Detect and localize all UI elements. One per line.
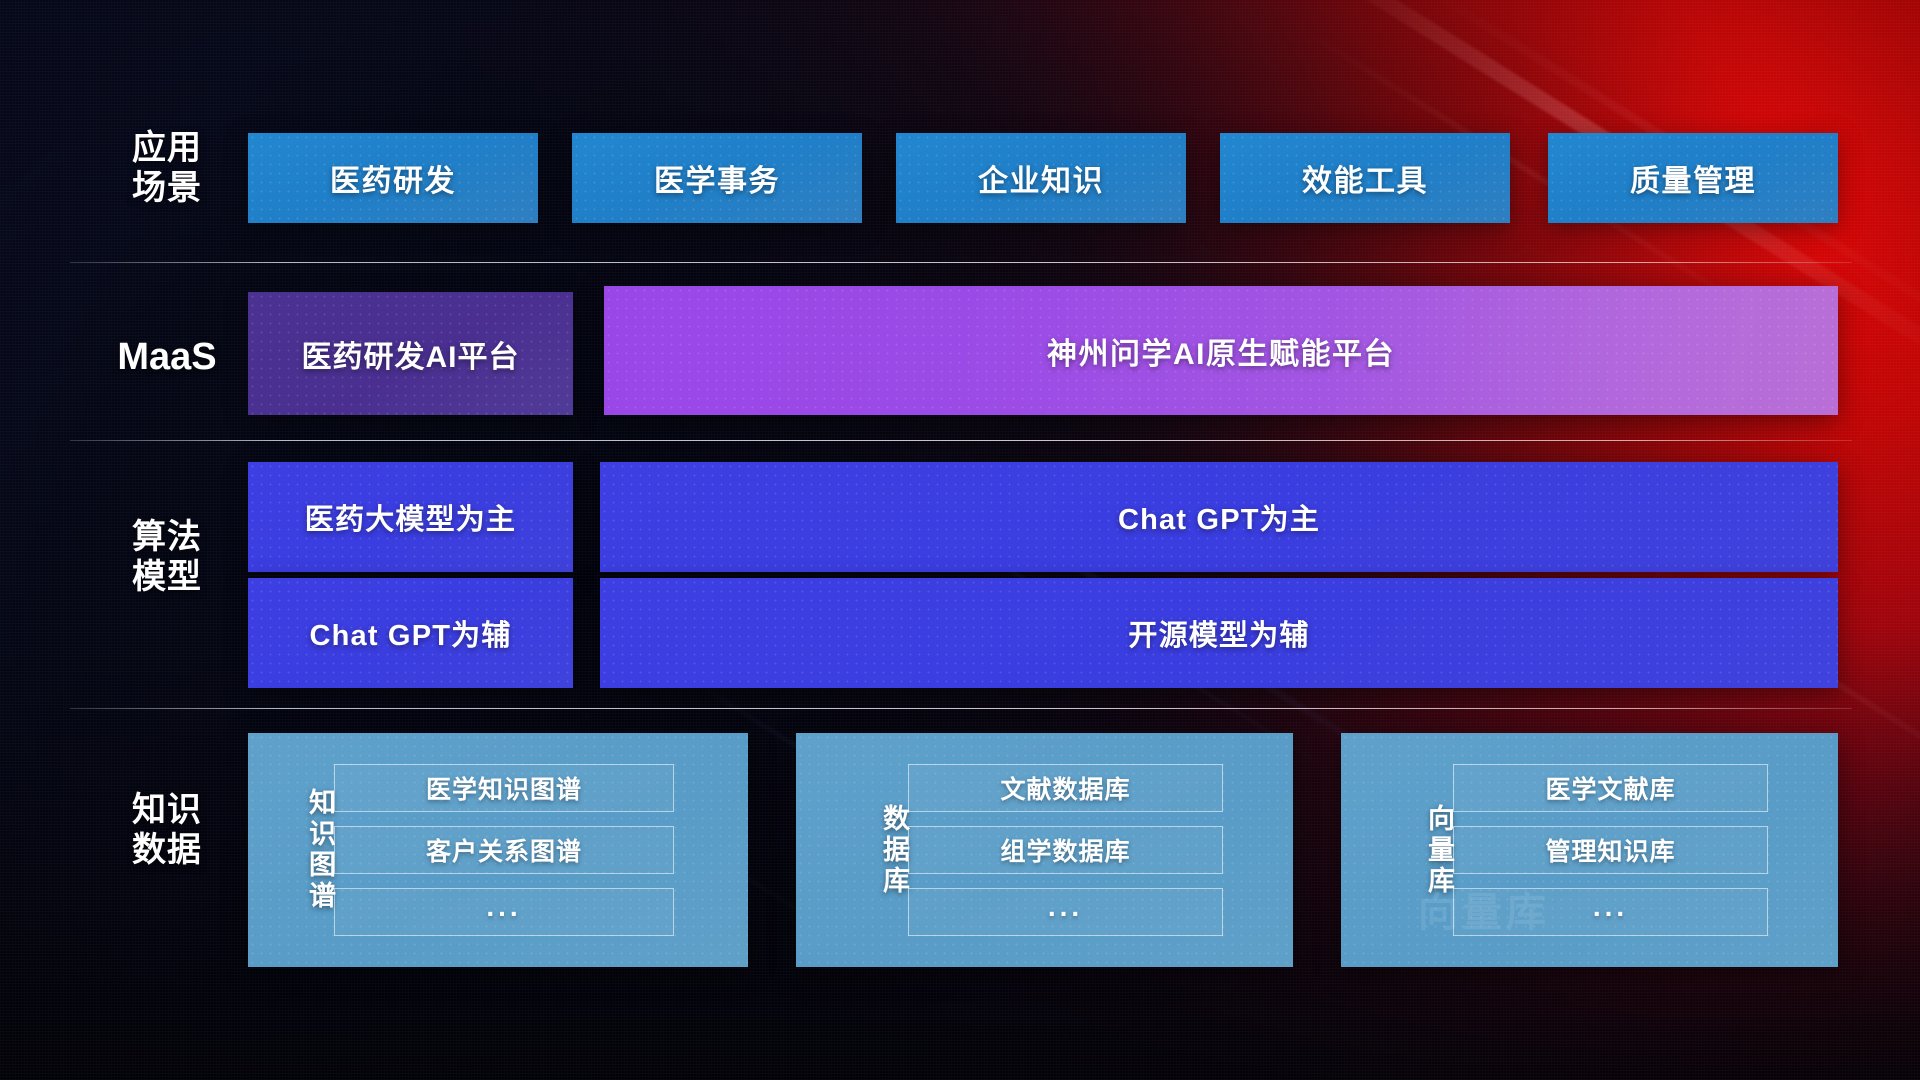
app-card-medical-affairs[interactable]: 医学事务 bbox=[572, 133, 862, 223]
row-label-maas: MaaS bbox=[92, 335, 242, 380]
knowledge-item[interactable]: 医学文献库 bbox=[1453, 764, 1768, 812]
app-card-efficiency-tools[interactable]: 效能工具 bbox=[1220, 133, 1510, 223]
algo-card-opensource-secondary[interactable]: 开源模型为辅 bbox=[600, 578, 1838, 688]
knowledge-group-vector-store: 向量库 医学文献库 管理知识库 ... bbox=[1341, 733, 1838, 967]
app-card-label: 医药研发 bbox=[330, 156, 456, 200]
row-divider-3 bbox=[70, 708, 1852, 709]
knowledge-item[interactable]: 管理知识库 bbox=[1453, 826, 1768, 874]
row-label-knowledge: 知识 数据 bbox=[92, 790, 242, 870]
app-card-label: 企业知识 bbox=[978, 156, 1104, 200]
knowledge-item-more[interactable]: ... bbox=[1453, 888, 1768, 936]
algo-card-label: Chat GPT为主 bbox=[1118, 496, 1320, 538]
knowledge-item-list: 文献数据库 组学数据库 ... bbox=[908, 733, 1293, 967]
architecture-diagram: 应用 场景 医药研发 医学事务 企业知识 效能工具 质量管理 MaaS 医药研发… bbox=[0, 0, 1920, 1080]
app-card-label: 质量管理 bbox=[1630, 156, 1756, 200]
row-divider-2 bbox=[70, 440, 1852, 441]
knowledge-group-label: 知识图谱 bbox=[248, 788, 334, 912]
algo-card-label: 医药大模型为主 bbox=[305, 496, 516, 538]
row-divider-1 bbox=[70, 262, 1852, 263]
knowledge-item[interactable]: 组学数据库 bbox=[908, 826, 1223, 874]
algo-card-chatgpt-secondary[interactable]: Chat GPT为辅 bbox=[248, 578, 573, 688]
knowledge-item-list: 医学文献库 管理知识库 ... bbox=[1453, 733, 1838, 967]
algo-card-chatgpt-primary[interactable]: Chat GPT为主 bbox=[600, 462, 1838, 572]
app-card-quality-management[interactable]: 质量管理 bbox=[1548, 133, 1838, 223]
app-card-medicine-rd[interactable]: 医药研发 bbox=[248, 133, 538, 223]
knowledge-item-more[interactable]: ... bbox=[334, 888, 674, 936]
app-card-label: 效能工具 bbox=[1302, 156, 1428, 200]
maas-card-label: 神州问学AI原生赋能平台 bbox=[1047, 329, 1395, 373]
algo-card-label: Chat GPT为辅 bbox=[309, 612, 511, 654]
knowledge-group-label: 数据库 bbox=[796, 804, 908, 897]
row-label-application: 应用 场景 bbox=[92, 128, 242, 208]
algo-card-label: 开源模型为辅 bbox=[1128, 612, 1309, 654]
knowledge-item-list: 医学知识图谱 客户关系图谱 ... bbox=[334, 733, 748, 967]
knowledge-item[interactable]: 文献数据库 bbox=[908, 764, 1223, 812]
maas-card-pharma-ai-platform[interactable]: 医药研发AI平台 bbox=[248, 292, 573, 415]
knowledge-group-database: 数据库 文献数据库 组学数据库 ... bbox=[796, 733, 1293, 967]
knowledge-item-more[interactable]: ... bbox=[908, 888, 1223, 936]
row-label-algorithm: 算法 模型 bbox=[92, 517, 242, 597]
app-card-label: 医学事务 bbox=[654, 156, 780, 200]
maas-card-label: 医药研发AI平台 bbox=[302, 332, 520, 376]
algo-card-pharma-llm-primary[interactable]: 医药大模型为主 bbox=[248, 462, 573, 572]
knowledge-group-knowledge-graph: 知识图谱 医学知识图谱 客户关系图谱 ... bbox=[248, 733, 748, 967]
maas-card-shenzhou-wenxue-platform[interactable]: 神州问学AI原生赋能平台 bbox=[604, 286, 1838, 415]
knowledge-item[interactable]: 客户关系图谱 bbox=[334, 826, 674, 874]
knowledge-item[interactable]: 医学知识图谱 bbox=[334, 764, 674, 812]
knowledge-group-label: 向量库 bbox=[1341, 804, 1453, 897]
app-card-enterprise-knowledge[interactable]: 企业知识 bbox=[896, 133, 1186, 223]
